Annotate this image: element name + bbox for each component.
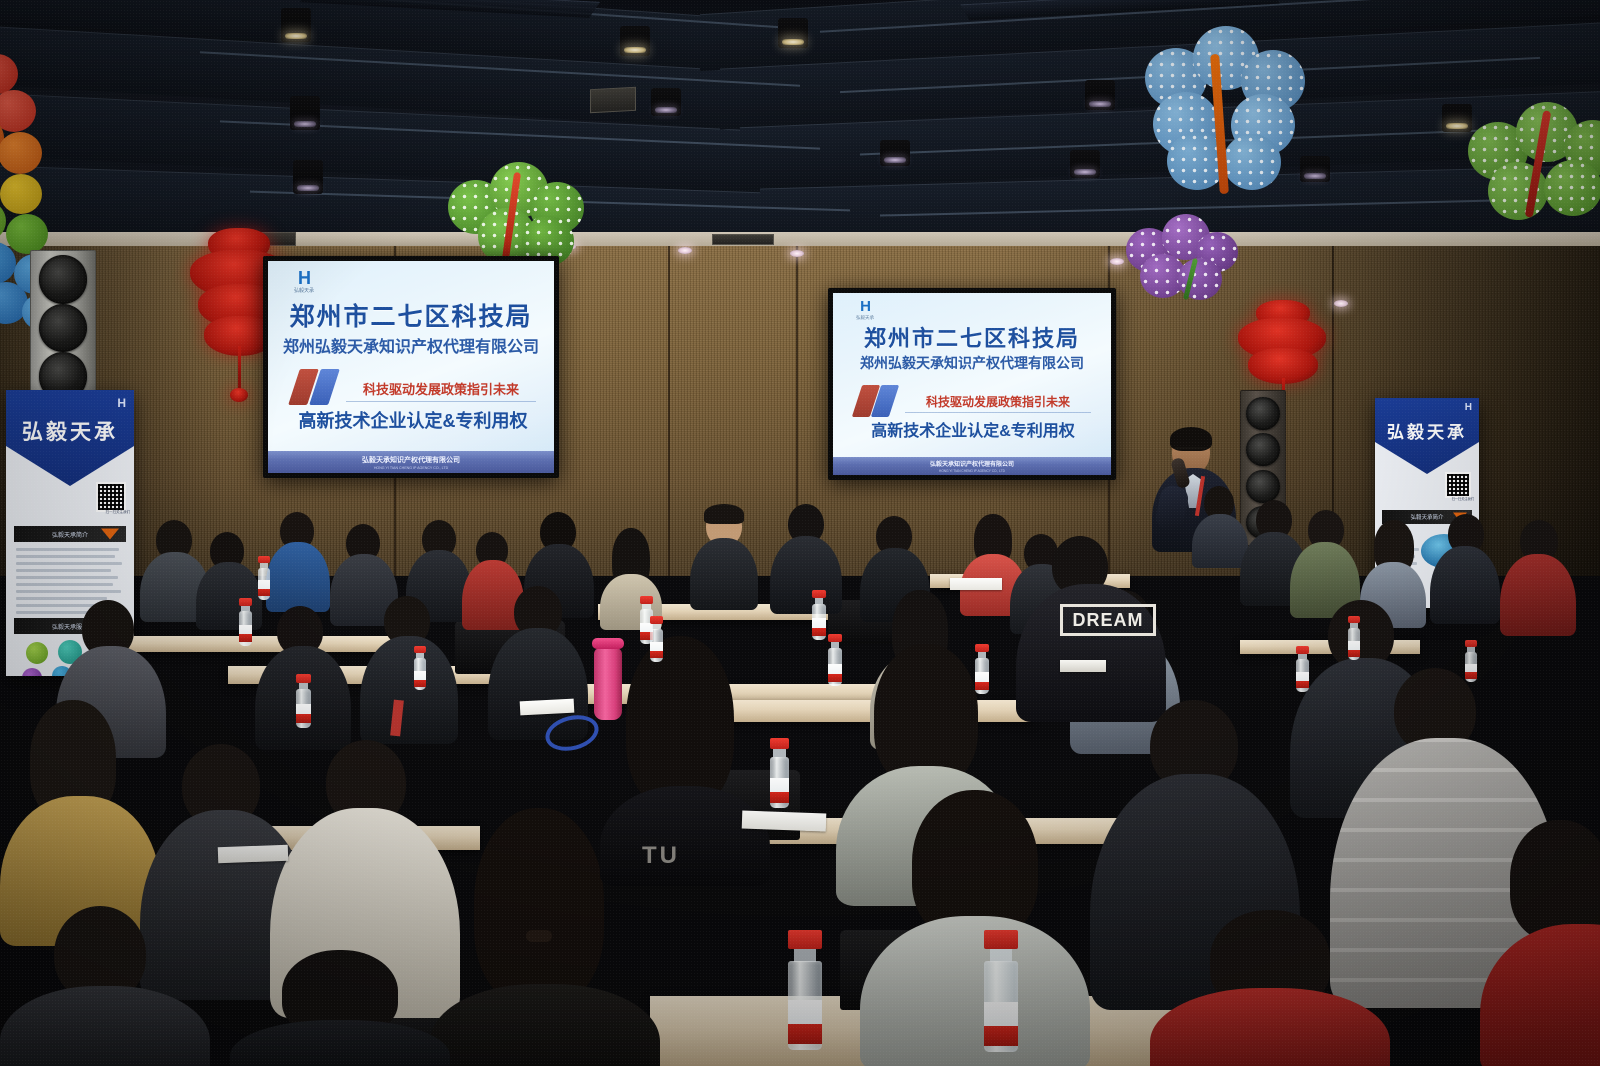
banner-bubble bbox=[22, 668, 42, 676]
water-bottle[interactable] bbox=[788, 930, 822, 1050]
ceiling-spotlight bbox=[293, 160, 323, 194]
purple-balloon-cluster bbox=[1126, 212, 1236, 302]
attendee bbox=[0, 906, 210, 1066]
jacket-text: TU bbox=[642, 842, 680, 870]
attendee bbox=[860, 790, 1090, 1066]
attendee bbox=[196, 532, 262, 624]
attendee bbox=[1480, 820, 1600, 1066]
attendee bbox=[360, 596, 458, 736]
wall-vent bbox=[712, 234, 774, 245]
green-balloon-cluster-right bbox=[1468, 102, 1600, 232]
banner-section-bar: 弘毅天承简介 bbox=[14, 526, 126, 542]
slide-logo: H 弘毅天承 bbox=[845, 299, 885, 321]
hair-tie bbox=[526, 930, 552, 942]
paper-handout[interactable] bbox=[520, 699, 575, 716]
slide-swoosh-graphic bbox=[294, 369, 340, 405]
pink-thermos[interactable] bbox=[594, 648, 622, 720]
slide-title: 郑州市二七区科技局 bbox=[833, 321, 1111, 353]
triangle-icon bbox=[101, 529, 119, 540]
water-bottle[interactable] bbox=[1296, 646, 1309, 692]
left-projection-screen[interactable]: H 弘毅天承 郑州市二七区科技局 郑州弘毅天承知识产权代理有限公司 科技驱动发展… bbox=[263, 256, 559, 478]
slide-tagline: 科技驱动发展政策指引未来 bbox=[905, 393, 1091, 410]
recessed-downlight bbox=[790, 250, 804, 257]
attendee bbox=[1150, 910, 1390, 1066]
attendee bbox=[266, 512, 330, 606]
attendee: TU bbox=[600, 636, 770, 876]
ceiling-spotlight bbox=[1070, 150, 1100, 178]
banner-title: 弘毅天承 bbox=[1375, 418, 1479, 443]
water-bottle[interactable] bbox=[650, 616, 663, 662]
slide-subtitle: 郑州弘毅天承知识产权代理有限公司 bbox=[268, 333, 554, 357]
banner-title: 弘毅天承 bbox=[6, 416, 134, 446]
slide-headline: 高新技术企业认定&专利用权 bbox=[290, 407, 536, 433]
paper-handout[interactable] bbox=[950, 578, 1002, 590]
attendee bbox=[770, 504, 842, 608]
slide-title: 郑州市二七区科技局 bbox=[268, 297, 554, 333]
slide-tagline: 科技驱动发展政策指引未来 bbox=[346, 379, 536, 398]
right-projection-screen[interactable]: H 弘毅天承 郑州市二七区科技局 郑州弘毅天承知识产权代理有限公司 科技驱动发展… bbox=[828, 288, 1116, 480]
ceiling-spotlight bbox=[281, 8, 311, 42]
water-bottle[interactable] bbox=[975, 644, 989, 694]
qr-caption: 扫一扫关注我们 bbox=[1452, 496, 1474, 501]
notebook[interactable] bbox=[1060, 660, 1106, 672]
water-bottle[interactable] bbox=[1348, 616, 1360, 660]
attendee bbox=[1500, 520, 1576, 630]
slide-logo-mark: H bbox=[860, 299, 870, 314]
jacket-text: DREAM bbox=[1073, 610, 1144, 631]
recessed-downlight bbox=[1334, 300, 1348, 307]
slide-footer-cn: 弘毅天承知识产权代理有限公司 bbox=[930, 459, 1014, 468]
attendee bbox=[1430, 514, 1500, 618]
slide-logo-sub: 弘毅天承 bbox=[294, 289, 314, 294]
slide-footer-en: HONG YI TIAN CHENG IP AGENCY CO., LTD bbox=[374, 466, 448, 470]
ceiling-spotlight bbox=[620, 26, 650, 56]
conference-hall-photo: H 弘毅天承 郑州市二七区科技局 郑州弘毅天承知识产权代理有限公司 科技驱动发展… bbox=[0, 0, 1600, 1066]
slide-subtitle: 郑州弘毅天承知识产权代理有限公司 bbox=[833, 353, 1111, 373]
ceiling-spotlight bbox=[1085, 80, 1115, 110]
water-bottle[interactable] bbox=[770, 738, 789, 808]
slide-logo-sub: 弘毅天承 bbox=[856, 316, 874, 321]
slide-footer: 弘毅天承知识产权代理有限公司 HONG YI TIAN CHENG IP AGE… bbox=[833, 457, 1111, 475]
attendee bbox=[690, 506, 758, 604]
slide-footer: 弘毅天承知识产权代理有限公司 HONG YI TIAN CHENG IP AGE… bbox=[268, 451, 554, 473]
water-bottle[interactable] bbox=[812, 590, 826, 640]
blue-balloon-cluster bbox=[1145, 20, 1315, 200]
slide-footer-cn: 弘毅天承知识产权代理有限公司 bbox=[362, 455, 460, 465]
slide-footer-en: HONG YI TIAN CHENG IP AGENCY CO., LTD bbox=[939, 469, 1005, 473]
glasses-icon bbox=[1175, 447, 1207, 456]
banner-logo: H bbox=[1465, 402, 1472, 413]
jacket-text-badge: DREAM bbox=[1060, 604, 1156, 636]
recessed-downlight bbox=[678, 247, 692, 254]
ceiling-vent bbox=[590, 87, 636, 113]
water-bottle[interactable] bbox=[1465, 640, 1477, 682]
attendee bbox=[0, 700, 160, 930]
qr-code[interactable] bbox=[96, 482, 126, 512]
attendee-dream-jacket: DREAM bbox=[1016, 536, 1166, 716]
recessed-downlight bbox=[1110, 258, 1124, 265]
water-bottle[interactable] bbox=[239, 598, 252, 646]
slide-headline: 高新技术企业认定&专利用权 bbox=[853, 417, 1093, 441]
slide-logo: H 弘毅天承 bbox=[282, 269, 326, 294]
water-bottle[interactable] bbox=[828, 634, 842, 686]
paper-handout[interactable] bbox=[218, 845, 289, 863]
paper-handout[interactable] bbox=[742, 811, 827, 832]
green-balloon-cluster-left bbox=[448, 158, 588, 268]
banner-bubble bbox=[26, 642, 48, 664]
slide-swoosh-graphic bbox=[857, 385, 899, 417]
qr-caption: 扫一扫关注我们 bbox=[106, 510, 131, 515]
water-bottle[interactable] bbox=[414, 646, 426, 690]
ceiling-spotlight bbox=[778, 18, 808, 48]
qr-code[interactable] bbox=[1445, 472, 1471, 498]
ceiling-spotlight bbox=[880, 140, 910, 166]
banner-logo: H bbox=[117, 396, 126, 410]
water-bottle[interactable] bbox=[984, 930, 1018, 1052]
water-bottle[interactable] bbox=[258, 556, 270, 600]
slide-logo-mark: H bbox=[298, 269, 310, 287]
ceiling-spotlight bbox=[290, 96, 320, 130]
ceiling-spotlight bbox=[651, 88, 681, 116]
attendee bbox=[230, 950, 450, 1066]
water-bottle[interactable] bbox=[296, 674, 311, 728]
attendee bbox=[1290, 510, 1360, 612]
